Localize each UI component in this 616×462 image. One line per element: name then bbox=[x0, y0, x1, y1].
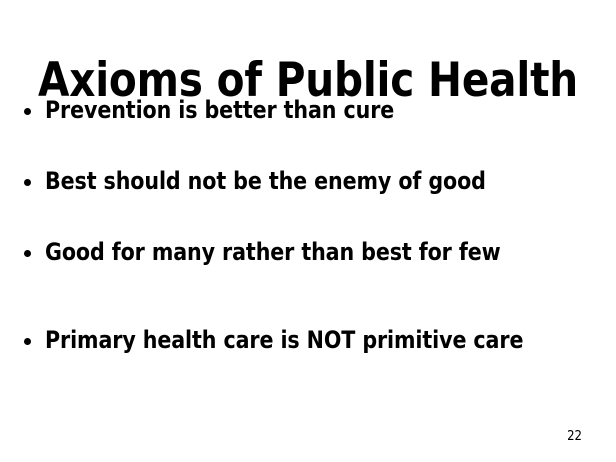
bullet-dot-icon bbox=[24, 108, 31, 115]
list-item-label: Best should not be the enemy of good bbox=[45, 167, 486, 195]
list-item: Prevention is better than cure bbox=[0, 96, 616, 167]
bullet-dot-icon bbox=[24, 179, 31, 186]
list-item-label: Prevention is better than cure bbox=[45, 96, 394, 124]
presentation-slide: Axioms of Public Health Prevention is be… bbox=[0, 0, 616, 462]
bullet-dot-icon bbox=[24, 338, 31, 345]
page-number: 22 bbox=[567, 429, 582, 444]
bullet-list: Prevention is better than cure Best shou… bbox=[0, 96, 616, 397]
bullet-dot-icon bbox=[24, 250, 31, 257]
list-item-label: Primary health care is NOT primitive car… bbox=[45, 326, 523, 354]
list-item: Good for many rather than best for few bbox=[0, 238, 616, 309]
list-item: Primary health care is NOT primitive car… bbox=[0, 326, 616, 397]
list-item-label: Good for many rather than best for few bbox=[45, 238, 501, 266]
list-item: Best should not be the enemy of good bbox=[0, 167, 616, 238]
